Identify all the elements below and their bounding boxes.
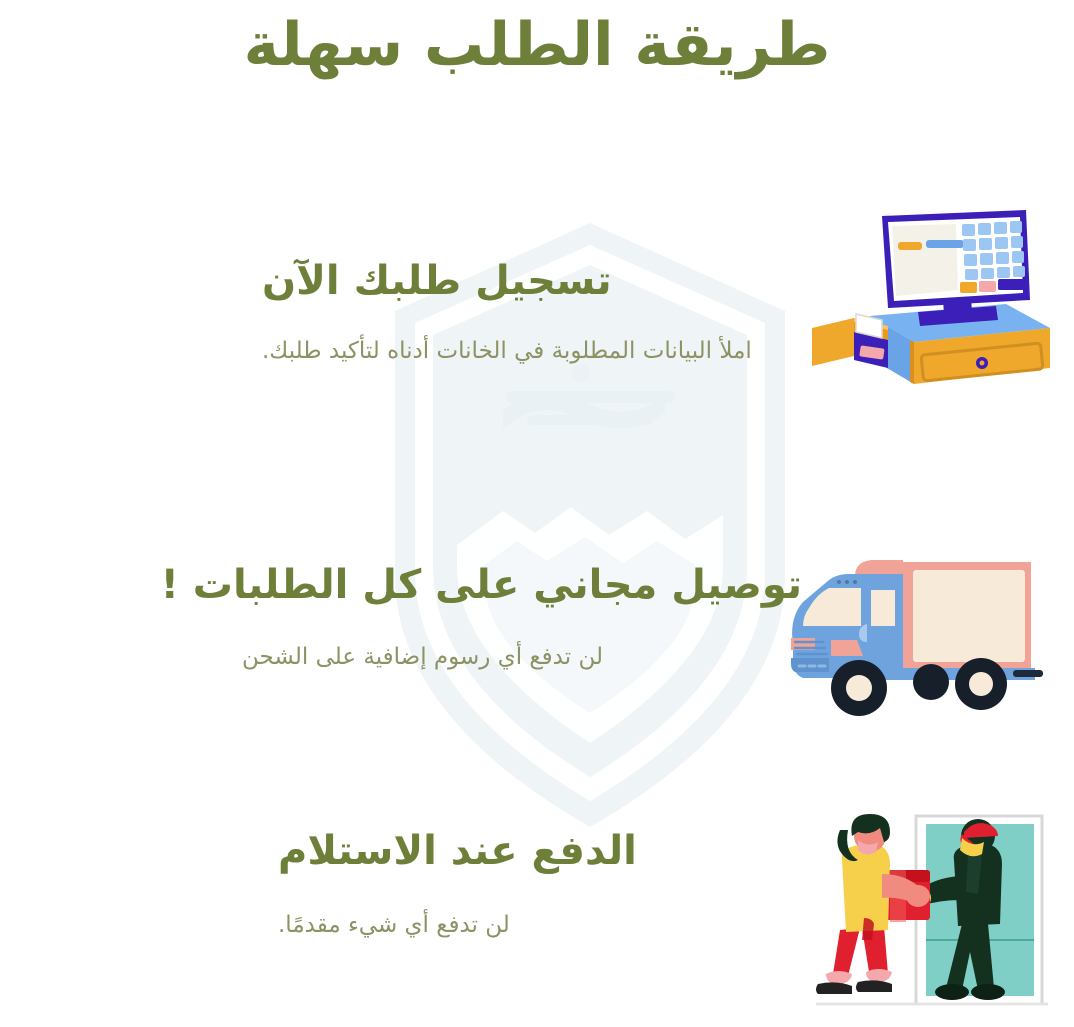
- section-3-heading: الدفع عند الاستلام: [278, 822, 778, 880]
- step-section-free-delivery: توصيل مجاني على كل الطلبات ! لن تدفع أي …: [0, 528, 1074, 748]
- section-2-subtitle: لن تدفع أي رسوم إضافية على الشحن: [242, 640, 802, 675]
- section-1-subtitle: املأ البيانات المطلوبة في الخانات أدناه …: [262, 334, 782, 369]
- step-section-register: تسجيل طلبك الآن املأ البيانات المطلوبة ف…: [0, 200, 1074, 420]
- section-1-heading: تسجيل طلبك الآن: [262, 252, 782, 310]
- section-3-text-block: الدفع عند الاستلام لن تدفع أي شيء مقدمًا…: [278, 822, 778, 943]
- page-title: طريقة الطلب سهلة: [0, 8, 1074, 83]
- section-3-subtitle: لن تدفع أي شيء مقدمًا.: [278, 908, 778, 943]
- computer-pos-terminal-illustration: [810, 208, 1060, 403]
- section-1-text-block: تسجيل طلبك الآن املأ البيانات المطلوبة ف…: [262, 252, 782, 369]
- doorstep-delivery-illustration: [812, 812, 1052, 1027]
- delivery-truck-illustration: [785, 546, 1060, 726]
- section-2-text-block: توصيل مجاني على كل الطلبات ! لن تدفع أي …: [242, 556, 802, 675]
- section-2-heading: توصيل مجاني على كل الطلبات !: [242, 556, 802, 614]
- step-section-cash-on-delivery: الدفع عند الاستلام لن تدفع أي شيء مقدمًا…: [0, 800, 1074, 1020]
